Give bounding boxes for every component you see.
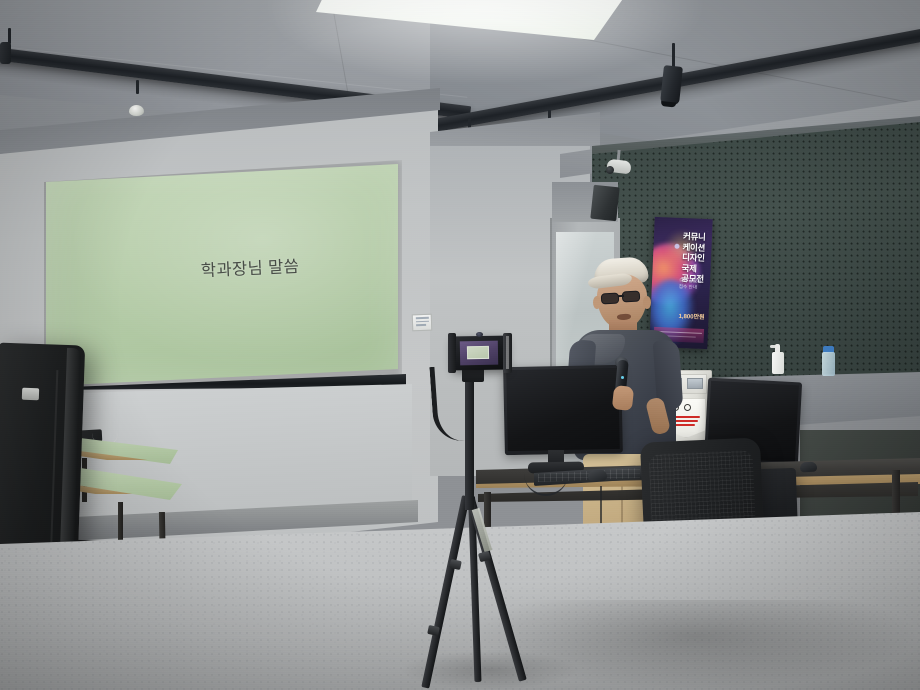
monitor-left-screen — [506, 368, 620, 451]
hand-sanitizer-bottle — [772, 352, 784, 374]
glasses-bridge — [618, 295, 624, 297]
track-spotlight-icon — [0, 42, 11, 64]
spotlight-stem — [136, 80, 139, 94]
photo-scene: 학과장님 말씀 커뮤니 케이션 디자인 국제 공모전 국제 공모전 접수 안내 … — [0, 0, 920, 690]
smartphone-screen-preview[interactable] — [460, 341, 498, 366]
phone-clamp-left[interactable] — [448, 333, 456, 373]
mouse-right[interactable] — [800, 462, 818, 473]
monitor-badge-label — [22, 388, 39, 401]
warning-face-icon — [684, 404, 691, 411]
water-bottle — [822, 352, 835, 376]
camera-preview-frame — [467, 346, 489, 359]
wall-speaker — [590, 185, 619, 222]
presenter-ear — [593, 296, 601, 309]
dispenser-button-hot[interactable] — [687, 378, 703, 389]
presenter-hand — [612, 385, 634, 411]
glasses-lens-left — [601, 293, 620, 305]
track-spotlight-icon — [660, 65, 683, 105]
phone-camera-lens-icon — [476, 332, 483, 337]
dome-ceiling-light — [129, 105, 144, 116]
glasses-lens-right — [622, 291, 641, 303]
tripod-center-column — [465, 380, 474, 510]
mouse-left[interactable] — [588, 470, 607, 482]
microphone-led-icon — [621, 376, 624, 379]
phone-clamp-highlight — [506, 336, 509, 369]
presenter-ear — [643, 296, 651, 309]
wall-notice-sign — [412, 314, 433, 332]
